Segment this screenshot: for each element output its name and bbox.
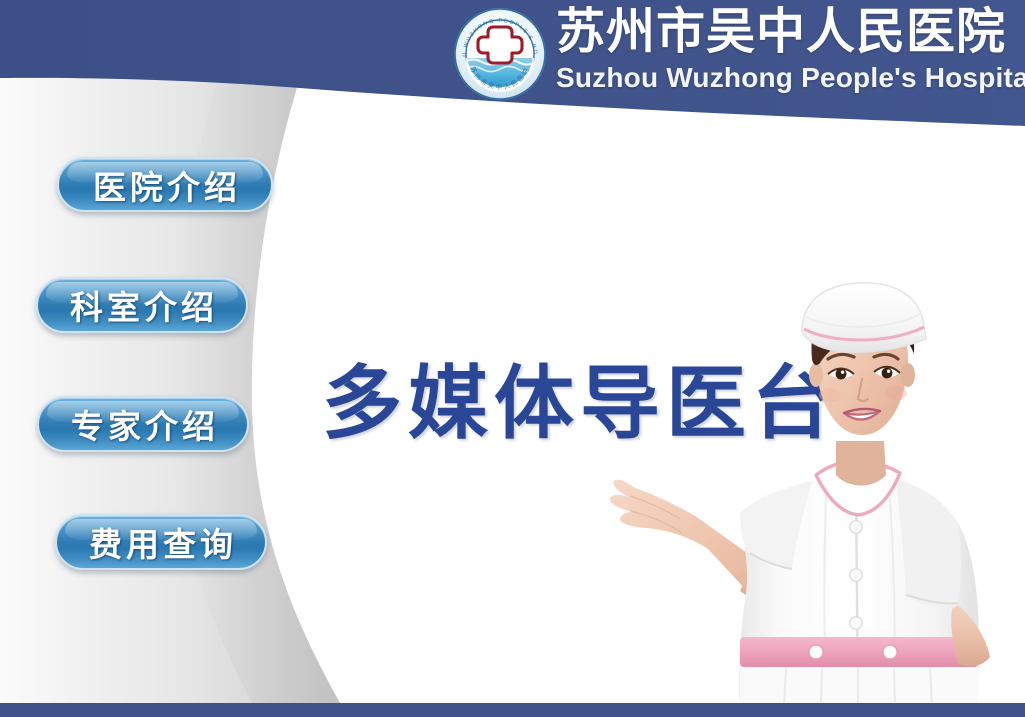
sidebar-item-fee-inquiry[interactable]: 费用查询 — [55, 514, 267, 570]
sidebar-item-label: 专家介绍 — [67, 400, 219, 448]
sidebar-item-label: 费用查询 — [85, 518, 237, 566]
sidebar-item-hospital-intro[interactable]: 医院介绍 — [57, 157, 273, 212]
kiosk-screen: SUZHOU WUZHONG PEOPLE'S HOSPITAL 苏州市吴中人民… — [0, 0, 1025, 717]
sidebar-item-expert-intro[interactable]: 专家介绍 — [37, 396, 249, 452]
sidebar-item-department-intro[interactable]: 科室介绍 — [36, 277, 248, 333]
page-title: 多媒体导医台 — [322, 358, 838, 450]
sidebar-item-label: 科室介绍 — [66, 281, 218, 329]
sidebar-item-label: 医院介绍 — [89, 161, 241, 209]
footer-bar — [0, 703, 1025, 717]
